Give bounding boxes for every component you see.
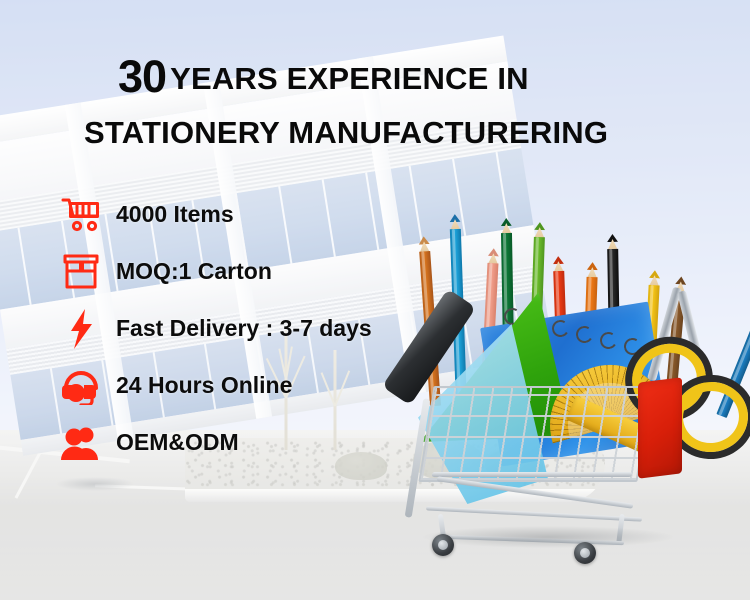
headline-line-2: STATIONERY MANUFACTURERING [84, 115, 718, 152]
lightning-bolt-icon [58, 306, 104, 352]
cart-back-panel [638, 377, 682, 478]
page-title: 30YEARS EXPERIENCE IN STATIONERY MANUFAC… [118, 50, 718, 152]
feature-label: 24 Hours Online [116, 372, 292, 399]
cart-base-rail [426, 506, 642, 521]
feature-item: MOQ:1 Carton [58, 243, 438, 300]
feature-item: OEM&ODM [58, 414, 438, 471]
cart-shadow [423, 526, 673, 548]
feature-label: Fast Delivery : 3-7 days [116, 315, 372, 342]
product-photo-stationery-cart [398, 196, 750, 556]
feature-list: 4000 Items MOQ:1 Carton [58, 186, 438, 471]
headline-line-1: 30YEARS EXPERIENCE IN [118, 50, 718, 103]
shopping-cart-icon [58, 192, 104, 238]
cart-basket [418, 386, 652, 482]
feature-item: 24 Hours Online [58, 357, 438, 414]
users-icon [58, 420, 104, 466]
promotional-banner: 30YEARS EXPERIENCE IN STATIONERY MANUFAC… [0, 0, 750, 600]
feature-label: MOQ:1 Carton [116, 258, 272, 285]
feature-label: 4000 Items [116, 201, 234, 228]
carton-box-icon [58, 249, 104, 295]
feature-item: 4000 Items [58, 186, 438, 243]
pavement-stain [55, 477, 135, 491]
headline-years-number: 30 [118, 51, 166, 102]
cart-rail [432, 472, 633, 477]
headline-line-1-text: YEARS EXPERIENCE IN [170, 61, 529, 96]
feature-item: Fast Delivery : 3-7 days [58, 300, 438, 357]
feature-label: OEM&ODM [116, 429, 239, 456]
headset-icon [58, 363, 104, 409]
